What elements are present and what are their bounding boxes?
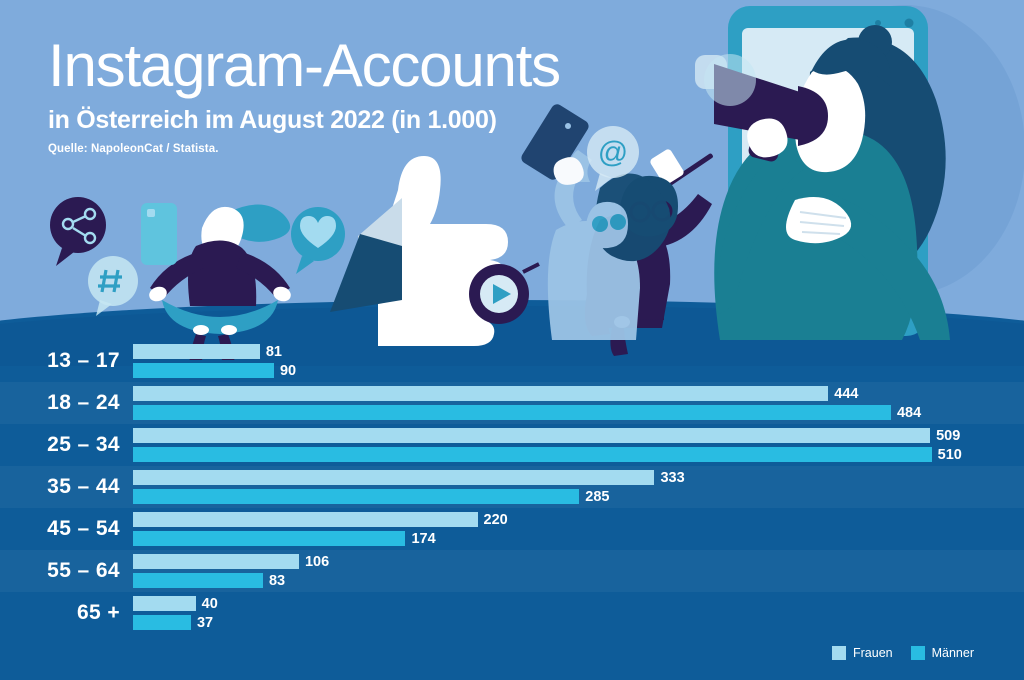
row-label-3: 25 – 34 (0, 433, 120, 457)
svg-text:@: @ (598, 136, 628, 169)
bar-value-label: 333 (660, 470, 684, 486)
play-button-icon (469, 264, 539, 324)
infographic-canvas: @ Instagram-Accounts in Österreich im Au… (0, 0, 1024, 680)
bar-value-label: 90 (280, 363, 296, 379)
bar-frauen-4[interactable]: 333 (133, 470, 654, 485)
chart-row: 55 – 6410683 (0, 550, 1024, 592)
bar-value-label: 40 (202, 596, 218, 612)
bar-männer-6[interactable]: 83 (133, 573, 263, 588)
source-note: Quelle: NapoleonCat / Statista. (48, 143, 560, 155)
row-bars: 10683 (133, 554, 299, 588)
row-label-2: 18 – 24 (0, 391, 120, 415)
bar-value-label: 106 (305, 554, 329, 570)
chart-legend: Frauen Männer (832, 646, 974, 660)
chart-row: 13 – 178190 (0, 340, 1024, 382)
bar-frauen-5[interactable]: 220 (133, 512, 478, 527)
chart-row: 65 +4037 (0, 592, 1024, 634)
bar-männer-4[interactable]: 285 (133, 489, 579, 504)
bar-value-label: 484 (897, 405, 921, 421)
page-subtitle: in Österreich im August 2022 (in 1.000) (48, 106, 560, 135)
bar-frauen-1[interactable]: 81 (133, 344, 260, 359)
page-title: Instagram-Accounts (48, 36, 560, 96)
heart-icon (291, 207, 345, 274)
row-bars: 4037 (133, 596, 196, 630)
share-icon (50, 197, 106, 266)
row-label-1: 13 – 17 (0, 349, 120, 373)
row-bars: 444484 (133, 386, 891, 420)
chart-row: 18 – 24444484 (0, 382, 1024, 424)
bar-value-label: 37 (197, 615, 213, 631)
chart-row: 45 – 54220174 (0, 508, 1024, 550)
bar-value-label: 285 (585, 489, 609, 505)
legend-item-frauen[interactable]: Frauen (832, 646, 893, 660)
bar-value-label: 220 (484, 512, 508, 528)
row-bars: 333285 (133, 470, 654, 504)
legend-label-maenner: Männer (932, 646, 974, 660)
bar-value-label: 174 (411, 531, 435, 547)
bar-männer-3[interactable]: 510 (133, 447, 932, 462)
smartphone-icon (141, 203, 177, 265)
bar-männer-7[interactable]: 37 (133, 615, 191, 630)
bar-frauen-7[interactable]: 40 (133, 596, 196, 611)
legend-swatch-frauen (832, 646, 846, 660)
bar-männer-1[interactable]: 90 (133, 363, 274, 378)
bar-value-label: 81 (266, 344, 282, 360)
legend-label-frauen: Frauen (853, 646, 893, 660)
chart-row: 25 – 34509510 (0, 424, 1024, 466)
row-label-7: 65 + (0, 601, 120, 625)
bar-chart: 13 – 17819018 – 2444448425 – 3450951035 … (0, 340, 1024, 640)
bar-value-label: 444 (834, 386, 858, 402)
bar-frauen-3[interactable]: 509 (133, 428, 930, 443)
legend-item-maenner[interactable]: Männer (911, 646, 974, 660)
row-bars: 8190 (133, 344, 274, 378)
row-bars: 509510 (133, 428, 932, 462)
bar-männer-2[interactable]: 484 (133, 405, 891, 420)
hashtag-icon (88, 256, 138, 316)
legend-swatch-maenner (911, 646, 925, 660)
bar-value-label: 83 (269, 573, 285, 589)
row-label-4: 35 – 44 (0, 475, 120, 499)
bar-value-label: 510 (938, 447, 962, 463)
title-block: Instagram-Accounts in Österreich im Augu… (48, 36, 560, 155)
row-label-6: 55 – 64 (0, 559, 120, 583)
bar-value-label: 509 (936, 428, 960, 444)
bar-frauen-2[interactable]: 444 (133, 386, 828, 401)
bar-frauen-6[interactable]: 106 (133, 554, 299, 569)
bar-männer-5[interactable]: 174 (133, 531, 405, 546)
row-bars: 220174 (133, 512, 478, 546)
speech-bubble-icon (704, 54, 756, 106)
chart-row: 35 – 44333285 (0, 466, 1024, 508)
row-label-5: 45 – 54 (0, 517, 120, 541)
